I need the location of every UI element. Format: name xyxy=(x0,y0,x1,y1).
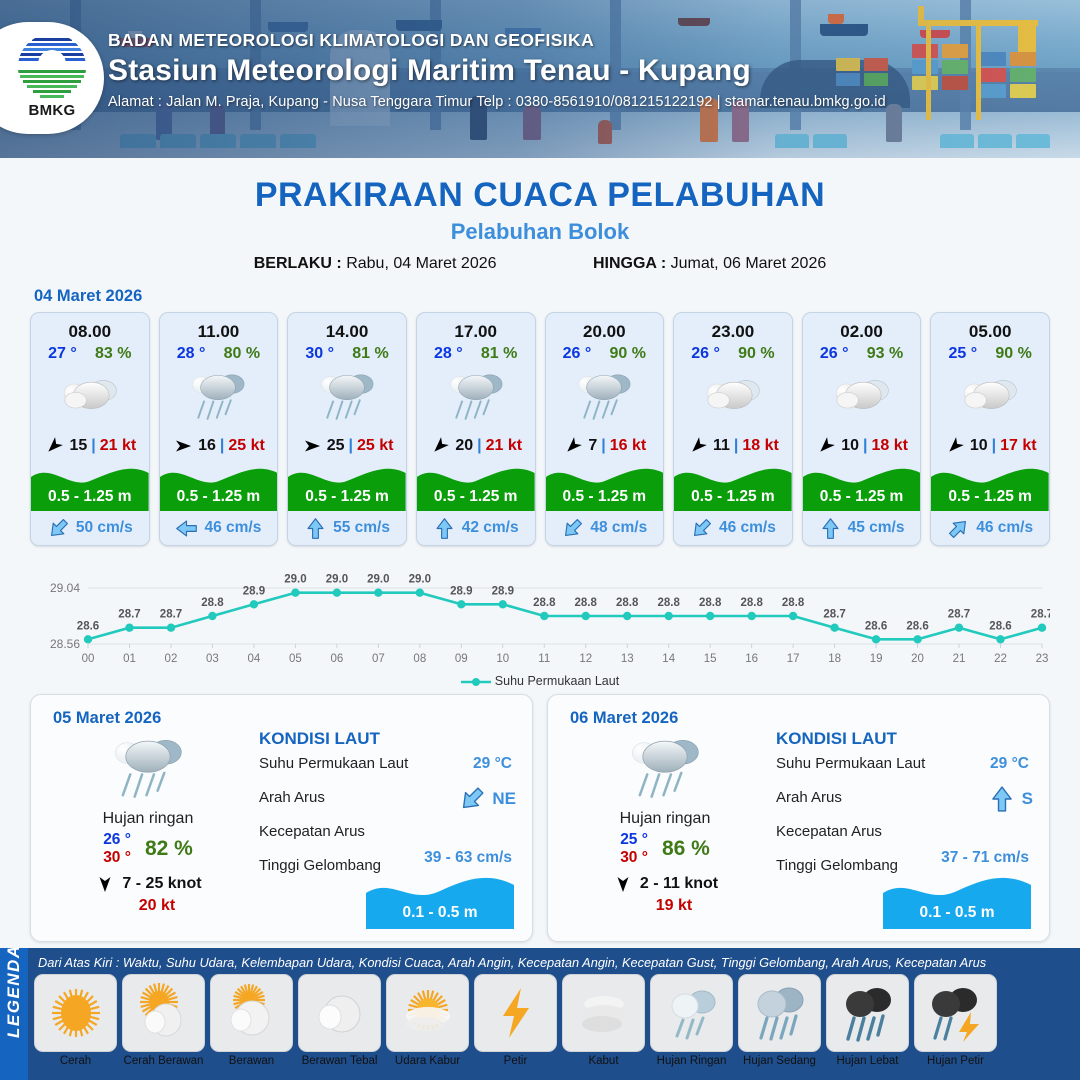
svg-text:18: 18 xyxy=(828,653,841,665)
svg-text:17: 17 xyxy=(787,653,800,665)
card-wind: 7 | 16 kt xyxy=(546,431,664,461)
legend-sidebar-label: LEGENDA xyxy=(4,950,24,1038)
card-temp-humidity: 26 ° 93 % xyxy=(803,342,921,363)
current-direction-row: Arah Arus S xyxy=(776,789,1035,823)
card-wind: 25 | 25 kt xyxy=(288,431,406,461)
station-address: Alamat : Jalan M. Praja, Kupang - Nusa T… xyxy=(108,94,886,110)
current-speed: 46 cm/s xyxy=(976,519,1033,537)
bmkg-logo: BMKG xyxy=(0,22,104,134)
legend-sun-cloud-icon xyxy=(122,974,205,1052)
legend-item-label: Hujan Sedang xyxy=(738,1055,821,1067)
card-wave: 0.5 - 1.25 m xyxy=(546,461,664,511)
legend-item: Cerah xyxy=(34,974,117,1067)
wind-direction-icon xyxy=(94,874,116,894)
hourly-card: 17.00 28 ° 81 % 20 | 21 kt 0.5 - 1.25 m xyxy=(416,312,536,546)
card-temperature: 30 ° xyxy=(305,345,334,363)
sea-conditions: KONDISI LAUT Suhu Permukaan Laut 29 °C A… xyxy=(776,729,1035,891)
card-wind: 10 | 18 kt xyxy=(803,431,921,461)
svg-text:06: 06 xyxy=(330,653,343,665)
svg-text:05: 05 xyxy=(289,653,302,665)
card-wave: 0.5 - 1.25 m xyxy=(674,461,792,511)
agency-name: BADAN METEOROLOGI KLIMATOLOGI DAN GEOFIS… xyxy=(108,30,886,51)
card-time: 08.00 xyxy=(31,313,149,342)
daily-humidity: 86 % xyxy=(662,837,710,861)
current-direction-icon xyxy=(690,517,713,540)
daily-date: 05 Maret 2026 xyxy=(53,709,161,728)
daily-summary: Hujan ringan 26 ° 30 ° 82 % 7 - 25 knot … xyxy=(43,733,253,915)
svg-text:29.0: 29.0 xyxy=(326,574,348,586)
valid-from-label: BERLAKU : xyxy=(254,255,342,272)
daily-gust: 20 kt xyxy=(43,897,253,915)
daily-date: 06 Maret 2026 xyxy=(570,709,678,728)
sst-label: Suhu Permukaan Laut xyxy=(776,755,925,772)
current-speed: 42 cm/s xyxy=(462,519,519,537)
svg-text:15: 15 xyxy=(704,653,717,665)
legend-body: Dari Atas Kiri : Waktu, Suhu Udara, Kele… xyxy=(28,948,1080,1080)
card-temperature: 26 ° xyxy=(691,345,720,363)
card-temp-humidity: 28 ° 80 % xyxy=(160,342,278,363)
current-direction-icon xyxy=(304,517,327,540)
wind-direction-icon xyxy=(612,874,634,894)
sst-row: Suhu Permukaan Laut 29 °C xyxy=(776,755,1035,789)
wave-height-label: Tinggi Gelombang xyxy=(259,857,381,874)
card-humidity: 90 % xyxy=(995,345,1031,363)
wind-speed: 15 xyxy=(69,437,87,455)
wind-direction-icon xyxy=(172,436,194,456)
legend-item: Hujan Sedang xyxy=(738,974,821,1067)
legend-item: Hujan Lebat xyxy=(826,974,909,1067)
svg-text:28.8: 28.8 xyxy=(699,597,722,609)
legend-item: Petir xyxy=(474,974,557,1067)
card-current: 55 cm/s xyxy=(288,511,406,545)
svg-text:28.6: 28.6 xyxy=(77,620,99,632)
legend-sun-icon xyxy=(34,974,117,1052)
svg-text:03: 03 xyxy=(206,653,219,665)
daily-wind-range: 7 - 25 knot xyxy=(122,875,201,893)
sst-row: Suhu Permukaan Laut 29 °C xyxy=(259,755,518,789)
card-wave: 0.5 - 1.25 m xyxy=(288,461,406,511)
wave-height-block: 0.1 - 0.5 m xyxy=(883,871,1031,929)
valid-until-label: HINGGA : xyxy=(593,255,666,272)
card-temp-humidity: 26 ° 90 % xyxy=(674,342,792,363)
legend-moderate-rain-icon xyxy=(738,974,821,1052)
wind-separator: | xyxy=(220,437,224,455)
card-time: 14.00 xyxy=(288,313,406,342)
card-current: 46 cm/s xyxy=(160,511,278,545)
current-speed: 46 cm/s xyxy=(719,519,776,537)
current-speed: 48 cm/s xyxy=(590,519,647,537)
wave-height: 0.5 - 1.25 m xyxy=(417,488,535,506)
wind-direction-icon xyxy=(944,436,966,456)
current-direction-icon xyxy=(175,517,198,540)
card-humidity: 83 % xyxy=(95,345,131,363)
chart-legend-label: Suhu Permukaan Laut xyxy=(495,674,619,688)
legend-cloud-thick-icon xyxy=(298,974,381,1052)
card-temperature: 27 ° xyxy=(48,345,77,363)
station-name: Stasiun Meteorologi Maritim Tenau - Kupa… xyxy=(108,54,886,88)
daily-temp-min: 25 ° xyxy=(620,831,648,849)
svg-text:28.8: 28.8 xyxy=(201,597,224,609)
hourly-card: 14.00 30 ° 81 % 25 | 25 kt 0.5 - 1.25 m xyxy=(287,312,407,546)
sst-value: 29 °C xyxy=(473,755,512,773)
wave-height: 0.5 - 1.25 m xyxy=(288,488,406,506)
current-direction-label: Arah Arus xyxy=(776,789,842,806)
legend-thunderstorm-icon xyxy=(914,974,997,1052)
daily-forecast-row: 05 Maret 2026 Hujan ringan 26 ° 30 ° 82 … xyxy=(0,688,1080,942)
card-humidity: 80 % xyxy=(224,345,260,363)
sea-conditions-title: KONDISI LAUT xyxy=(776,729,1035,749)
svg-text:28.9: 28.9 xyxy=(243,585,265,597)
card-humidity: 93 % xyxy=(867,345,903,363)
svg-text:29.0: 29.0 xyxy=(409,574,431,586)
card-wave: 0.5 - 1.25 m xyxy=(803,461,921,511)
svg-text:01: 01 xyxy=(123,653,136,665)
valid-from-group: BERLAKU : Rabu, 04 Maret 2026 xyxy=(254,255,497,273)
sst-chart: 29.0428.56000102030405060708091011121314… xyxy=(30,560,1050,672)
card-temp-humidity: 30 ° 81 % xyxy=(288,342,406,363)
logo-lower-half xyxy=(18,68,86,100)
wave-height: 0.5 - 1.25 m xyxy=(803,488,921,506)
legend-note: Dari Atas Kiri : Waktu, Suhu Udara, Kele… xyxy=(34,952,1074,974)
svg-text:07: 07 xyxy=(372,653,385,665)
legend-light-rain-icon xyxy=(650,974,733,1052)
valid-from-value: Rabu, 04 Maret 2026 xyxy=(346,255,496,272)
current-direction-value-group: NE xyxy=(458,785,516,813)
svg-text:29.0: 29.0 xyxy=(367,574,389,586)
title-block: PRAKIRAAN CUACA PELABUHAN Pelabuhan Bolo… xyxy=(0,176,1080,273)
card-humidity: 90 % xyxy=(610,345,646,363)
card-humidity: 81 % xyxy=(481,345,517,363)
weather-light-rain-icon xyxy=(43,733,253,808)
wind-speed: 10 xyxy=(841,437,859,455)
card-temperature: 26 ° xyxy=(820,345,849,363)
card-current: 45 cm/s xyxy=(803,511,921,545)
wind-speed: 11 xyxy=(713,437,730,455)
svg-text:28.8: 28.8 xyxy=(575,597,598,609)
current-direction-row: Arah Arus NE xyxy=(259,789,518,823)
weather-cloudy-icon xyxy=(31,363,149,431)
daily-temp-col: 26 ° 30 ° xyxy=(103,831,131,867)
wave-height-value: 0.1 - 0.5 m xyxy=(366,904,514,922)
legend-haze-icon xyxy=(386,974,469,1052)
hourly-card: 23.00 26 ° 90 % 11 | 18 kt 0.5 - 1.25 m xyxy=(673,312,793,546)
svg-text:20: 20 xyxy=(911,653,924,665)
wind-gust: 18 kt xyxy=(742,437,778,455)
legend-item-label: Hujan Lebat xyxy=(826,1055,909,1067)
wind-gust: 17 kt xyxy=(1000,437,1036,455)
wind-gust: 18 kt xyxy=(871,437,907,455)
weather-cloudy-icon xyxy=(803,363,921,431)
wave-height: 0.5 - 1.25 m xyxy=(674,488,792,506)
svg-text:10: 10 xyxy=(496,653,509,665)
wind-speed: 10 xyxy=(970,437,988,455)
legend-lightning-icon xyxy=(474,974,557,1052)
svg-text:28.8: 28.8 xyxy=(741,597,764,609)
legend-item: Cerah Berawan xyxy=(122,974,205,1067)
svg-text:28.8: 28.8 xyxy=(658,597,681,609)
weather-cloudy-icon xyxy=(674,363,792,431)
legend-item: Berawan xyxy=(210,974,293,1067)
svg-text:28.7: 28.7 xyxy=(948,609,970,621)
card-time: 20.00 xyxy=(546,313,664,342)
current-direction-icon xyxy=(561,517,584,540)
sea-conditions: KONDISI LAUT Suhu Permukaan Laut 29 °C A… xyxy=(259,729,518,891)
wind-gust: 21 kt xyxy=(100,437,136,455)
legend-items: Cerah Cerah Berawan Berawan Berawan Teba… xyxy=(34,974,1074,1067)
daily-summary: Hujan ringan 25 ° 30 ° 86 % 2 - 11 knot … xyxy=(560,733,770,915)
wind-speed: 7 xyxy=(588,437,597,455)
svg-text:28.8: 28.8 xyxy=(616,597,639,609)
hourly-card: 05.00 25 ° 90 % 10 | 17 kt 0.5 - 1.25 m xyxy=(930,312,1050,546)
wave-height: 0.5 - 1.25 m xyxy=(546,488,664,506)
legend-item-label: Cerah xyxy=(34,1055,117,1067)
svg-text:16: 16 xyxy=(745,653,758,665)
hourly-card: 08.00 27 ° 83 % 15 | 21 kt 0.5 - 1.25 m xyxy=(30,312,150,546)
wind-gust: 25 kt xyxy=(357,437,393,455)
card-current: 46 cm/s xyxy=(931,511,1049,545)
daily-wind: 2 - 11 knot xyxy=(560,874,770,894)
card-temp-humidity: 26 ° 90 % xyxy=(546,342,664,363)
wind-separator: | xyxy=(477,437,481,455)
wind-gust: 16 kt xyxy=(610,437,646,455)
card-temp-humidity: 25 ° 90 % xyxy=(931,342,1049,363)
daily-panel: 06 Maret 2026 Hujan ringan 25 ° 30 ° 86 … xyxy=(547,694,1050,942)
current-direction-value: NE xyxy=(492,789,516,809)
svg-text:08: 08 xyxy=(413,653,426,665)
card-time: 05.00 xyxy=(931,313,1049,342)
daily-wind: 7 - 25 knot xyxy=(43,874,253,894)
svg-text:29.0: 29.0 xyxy=(284,574,306,586)
wind-direction-icon xyxy=(815,436,837,456)
chart-legend: Suhu Permukaan Laut xyxy=(0,674,1080,688)
legend-item-label: Cerah Berawan xyxy=(122,1055,205,1067)
wind-separator: | xyxy=(601,437,605,455)
svg-text:28.7: 28.7 xyxy=(1031,609,1050,621)
current-direction-icon xyxy=(988,785,1016,813)
daily-wind-range: 2 - 11 knot xyxy=(640,875,718,893)
card-temperature: 28 ° xyxy=(434,345,463,363)
wind-speed: 25 xyxy=(327,437,345,455)
sst-value: 29 °C xyxy=(990,755,1029,773)
card-wave: 0.5 - 1.25 m xyxy=(931,461,1049,511)
valid-until-group: HINGGA : Jumat, 06 Maret 2026 xyxy=(593,255,826,272)
card-time: 02.00 xyxy=(803,313,921,342)
svg-text:12: 12 xyxy=(579,653,592,665)
card-wave: 0.5 - 1.25 m xyxy=(31,461,149,511)
validity-range: BERLAKU : Rabu, 04 Maret 2026 HINGGA : J… xyxy=(0,255,1080,273)
legend-item-label: Berawan xyxy=(210,1055,293,1067)
wind-speed: 20 xyxy=(455,437,473,455)
current-direction-value-group: S xyxy=(988,785,1033,813)
card-time: 11.00 xyxy=(160,313,278,342)
sea-conditions-title: KONDISI LAUT xyxy=(259,729,518,749)
svg-text:14: 14 xyxy=(662,653,675,665)
weather-light-rain-icon xyxy=(546,363,664,431)
current-speed: 55 cm/s xyxy=(333,519,390,537)
wave-height: 0.5 - 1.25 m xyxy=(931,488,1049,506)
wind-direction-icon xyxy=(301,436,323,456)
daily-humidity: 82 % xyxy=(145,837,193,861)
current-direction-icon xyxy=(458,785,486,813)
wind-direction-icon xyxy=(562,436,584,456)
wave-height-row: Tinggi Gelombang 0.1 - 0.5 m xyxy=(776,857,1035,891)
weather-light-rain-icon xyxy=(417,363,535,431)
wind-gust: 21 kt xyxy=(486,437,522,455)
current-speed: 45 cm/s xyxy=(848,519,905,537)
card-current: 46 cm/s xyxy=(674,511,792,545)
legend-fog-icon xyxy=(562,974,645,1052)
hourly-date-label: 04 Maret 2026 xyxy=(34,287,1080,306)
svg-text:28.7: 28.7 xyxy=(160,609,182,621)
card-current: 48 cm/s xyxy=(546,511,664,545)
svg-text:23: 23 xyxy=(1036,653,1049,665)
card-wind: 16 | 25 kt xyxy=(160,431,278,461)
svg-text:28.7: 28.7 xyxy=(823,609,845,621)
legend-sidebar: LEGENDA xyxy=(0,948,28,1080)
card-temp-humidity: 27 ° 83 % xyxy=(31,342,149,363)
current-speed: 50 cm/s xyxy=(76,519,133,537)
legend-item-label: Hujan Ringan xyxy=(650,1055,733,1067)
hourly-card: 02.00 26 ° 93 % 10 | 18 kt 0.5 - 1.25 m xyxy=(802,312,922,546)
daily-temp-max: 30 ° xyxy=(103,849,131,867)
daily-condition: Hujan ringan xyxy=(43,810,253,828)
legend-item: Hujan Petir xyxy=(914,974,997,1067)
sst-label: Suhu Permukaan Laut xyxy=(259,755,408,772)
svg-text:09: 09 xyxy=(455,653,468,665)
current-speed-label: Kecepatan Arus xyxy=(259,823,365,840)
svg-text:28.8: 28.8 xyxy=(782,597,805,609)
wind-separator: | xyxy=(863,437,867,455)
weather-light-rain-icon xyxy=(288,363,406,431)
logo-upper-half xyxy=(18,34,86,67)
wind-separator: | xyxy=(91,437,95,455)
wind-speed: 16 xyxy=(198,437,216,455)
wind-gust: 25 kt xyxy=(228,437,264,455)
hourly-card: 20.00 26 ° 90 % 7 | 16 kt 0.5 - 1.25 m xyxy=(545,312,665,546)
weather-light-rain-icon xyxy=(560,733,770,808)
card-humidity: 90 % xyxy=(738,345,774,363)
svg-text:04: 04 xyxy=(248,653,261,665)
sst-chart-svg: 29.0428.56000102030405060708091011121314… xyxy=(30,560,1050,672)
card-wind: 10 | 17 kt xyxy=(931,431,1049,461)
valid-until-value: Jumat, 06 Maret 2026 xyxy=(671,255,827,272)
card-humidity: 81 % xyxy=(352,345,388,363)
page-title: PRAKIRAAN CUACA PELABUHAN xyxy=(0,176,1080,215)
legend-cloud-sun-small-icon xyxy=(210,974,293,1052)
svg-text:28.7: 28.7 xyxy=(118,609,140,621)
card-temp-humidity: 28 ° 81 % xyxy=(417,342,535,363)
svg-text:28.9: 28.9 xyxy=(492,585,514,597)
page-subtitle: Pelabuhan Bolok xyxy=(0,219,1080,245)
current-direction-icon xyxy=(819,517,842,540)
wind-separator: | xyxy=(348,437,352,455)
current-direction-value: S xyxy=(1022,789,1033,809)
legend-item: Berawan Tebal xyxy=(298,974,381,1067)
current-direction-icon xyxy=(433,517,456,540)
svg-text:28.56: 28.56 xyxy=(50,637,80,651)
svg-text:22: 22 xyxy=(994,653,1007,665)
svg-text:28.9: 28.9 xyxy=(450,585,472,597)
current-speed-label: Kecepatan Arus xyxy=(776,823,882,840)
legend-item: Hujan Ringan xyxy=(650,974,733,1067)
current-speed-row: Kecepatan Arus 39 - 63 cm/s xyxy=(259,823,518,857)
legend-item: Udara Kabur xyxy=(386,974,469,1067)
wind-direction-icon xyxy=(687,436,709,456)
card-temperature: 26 ° xyxy=(563,345,592,363)
legend-item-label: Udara Kabur xyxy=(386,1055,469,1067)
wave-height-row: Tinggi Gelombang 0.1 - 0.5 m xyxy=(259,857,518,891)
current-speed-row: Kecepatan Arus 37 - 71 cm/s xyxy=(776,823,1035,857)
daily-temp-humidity: 25 ° 30 ° 86 % xyxy=(560,831,770,867)
legend-item-label: Hujan Petir xyxy=(914,1055,997,1067)
svg-text:21: 21 xyxy=(953,653,966,665)
current-direction-icon xyxy=(47,517,70,540)
card-time: 17.00 xyxy=(417,313,535,342)
daily-temp-max: 30 ° xyxy=(620,849,648,867)
daily-temp-col: 25 ° 30 ° xyxy=(620,831,648,867)
legend-item-label: Petir xyxy=(474,1055,557,1067)
legend-section: LEGENDA Dari Atas Kiri : Waktu, Suhu Uda… xyxy=(0,948,1080,1080)
bmkg-logo-text: BMKG xyxy=(12,102,92,119)
card-wave: 0.5 - 1.25 m xyxy=(160,461,278,511)
legend-heavy-rain-icon xyxy=(826,974,909,1052)
wind-separator: | xyxy=(992,437,996,455)
card-wave: 0.5 - 1.25 m xyxy=(417,461,535,511)
wind-direction-icon xyxy=(429,436,451,456)
wave-height: 0.5 - 1.25 m xyxy=(160,488,278,506)
weather-cloudy-icon xyxy=(931,363,1049,431)
svg-text:02: 02 xyxy=(165,653,178,665)
legend-marker-icon xyxy=(461,677,491,687)
wave-height-block: 0.1 - 0.5 m xyxy=(366,871,514,929)
current-direction-label: Arah Arus xyxy=(259,789,325,806)
header-text-block: BADAN METEOROLOGI KLIMATOLOGI DAN GEOFIS… xyxy=(108,30,886,110)
hourly-card: 11.00 28 ° 80 % 16 | 25 kt 0.5 - 1.25 m xyxy=(159,312,279,546)
svg-text:28.6: 28.6 xyxy=(989,620,1011,632)
svg-text:00: 00 xyxy=(82,653,95,665)
svg-text:19: 19 xyxy=(870,653,883,665)
wind-separator: | xyxy=(734,437,738,455)
hourly-forecast-row: 08.00 27 ° 83 % 15 | 21 kt 0.5 - 1.25 m xyxy=(0,312,1080,546)
daily-gust: 19 kt xyxy=(560,897,770,915)
svg-text:11: 11 xyxy=(538,653,550,665)
svg-text:28.8: 28.8 xyxy=(533,597,556,609)
card-temperature: 25 ° xyxy=(949,345,978,363)
wave-height-value: 0.1 - 0.5 m xyxy=(883,904,1031,922)
legend-item-label: Kabut xyxy=(562,1055,645,1067)
legend-item: Kabut xyxy=(562,974,645,1067)
svg-text:13: 13 xyxy=(621,653,634,665)
svg-text:28.6: 28.6 xyxy=(906,620,928,632)
svg-text:29.04: 29.04 xyxy=(50,581,80,595)
daily-condition: Hujan ringan xyxy=(560,810,770,828)
card-wind: 15 | 21 kt xyxy=(31,431,149,461)
legend-item-label: Berawan Tebal xyxy=(298,1055,381,1067)
card-wind: 11 | 18 kt xyxy=(674,431,792,461)
daily-panel: 05 Maret 2026 Hujan ringan 26 ° 30 ° 82 … xyxy=(30,694,533,942)
current-direction-icon xyxy=(947,517,970,540)
daily-temp-min: 26 ° xyxy=(103,831,131,849)
wind-direction-icon xyxy=(43,436,65,456)
wave-height-label: Tinggi Gelombang xyxy=(776,857,898,874)
card-current: 50 cm/s xyxy=(31,511,149,545)
card-current: 42 cm/s xyxy=(417,511,535,545)
wave-height: 0.5 - 1.25 m xyxy=(31,488,149,506)
card-temperature: 28 ° xyxy=(177,345,206,363)
svg-text:28.6: 28.6 xyxy=(865,620,887,632)
card-wind: 20 | 21 kt xyxy=(417,431,535,461)
current-speed: 46 cm/s xyxy=(204,519,261,537)
